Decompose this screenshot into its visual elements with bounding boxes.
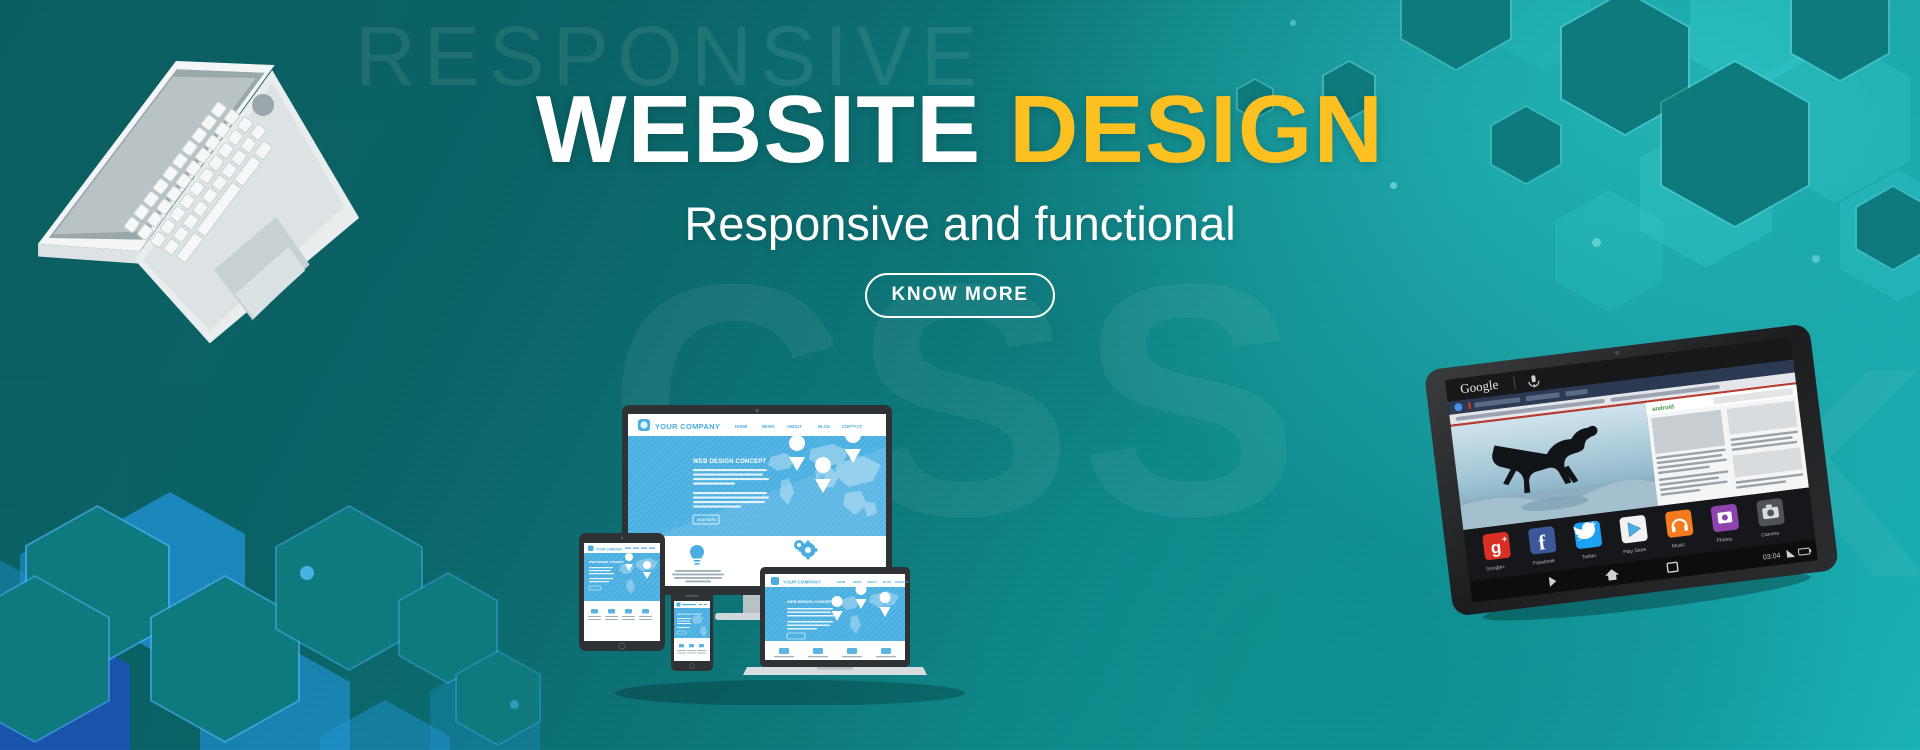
device-mockups-group: YOUR COMPANY HOME NEWS ABOUT BLOG CONTAC…	[575, 405, 1005, 705]
title-word-design: DESIGN	[1009, 76, 1384, 183]
know-more-button[interactable]: KNOW MORE	[865, 273, 1056, 318]
mockup-nav-about: ABOUT	[787, 424, 802, 429]
svg-text:02: 02	[834, 608, 838, 612]
svg-text:03: 03	[849, 445, 855, 451]
svg-text:02: 02	[819, 475, 825, 481]
laptop-mockup-hero-heading: WEB DESIGN CONCEPT	[787, 599, 834, 604]
laptop-mockup-company-name: YOUR COMPANY	[783, 580, 821, 585]
svg-text:03: 03	[882, 604, 886, 608]
mockup-nav-blog: BLOG	[818, 424, 830, 429]
mockup-group-shadow	[615, 680, 965, 705]
svg-text:NEWS: NEWS	[853, 580, 862, 584]
svg-text:+: +	[1501, 534, 1507, 545]
svg-text:READ MORE: READ MORE	[697, 518, 716, 522]
tablet-mockup: YOUR COMPANY WEB DESIGN CONCEPT	[579, 533, 665, 651]
subtitle: Responsive and functional	[0, 200, 1920, 247]
responsive-website-design-banner: RESPONSIVE CSS DESIGN K WEBSITE DESIGN R…	[0, 0, 1920, 750]
svg-text:ABOUT: ABOUT	[867, 580, 877, 584]
mockup-company-name: YOUR COMPANY	[655, 422, 720, 431]
cta-wrapper: KNOW MORE	[0, 273, 1920, 318]
news-page-panel: android	[1645, 384, 1809, 506]
svg-text:CONTACT: CONTACT	[895, 580, 909, 584]
svg-text:WEB DESIGN CONCEPT: WEB DESIGN CONCEPT	[589, 560, 624, 564]
smartphone-mockup: WEB DESIGN CONCEPT	[671, 591, 713, 671]
svg-text:WEB DESIGN CONCEPT: WEB DESIGN CONCEPT	[677, 614, 703, 616]
android-tablet: Google	[1417, 317, 1847, 634]
page-title: WEBSITE DESIGN	[0, 82, 1920, 178]
mockup-hero-heading: WEB DESIGN CONCEPT	[693, 459, 766, 465]
svg-text:HOME: HOME	[837, 580, 846, 584]
svg-text:01: 01	[858, 596, 862, 600]
svg-text:YOUR COMPANY: YOUR COMPANY	[596, 547, 623, 551]
svg-text:g: g	[1490, 538, 1503, 558]
mockup-nav-home: HOME	[735, 424, 748, 429]
laptop-mockup-logo-icon	[771, 577, 779, 585]
svg-text:BLOG: BLOG	[883, 580, 891, 584]
app-icon-play-store: Play Store	[1619, 515, 1649, 556]
svg-text:01: 01	[793, 453, 799, 459]
app-icon-facebook: f Facebook	[1528, 526, 1558, 567]
mockup-nav-news: NEWS	[762, 424, 775, 429]
headline-block: WEBSITE DESIGN Responsive and functional…	[0, 82, 1920, 318]
title-word-website: WEBSITE	[536, 76, 981, 183]
laptop-mockup: YOUR COMPANY HOME NEWS ABOUT BLOG CONTAC…	[743, 567, 927, 675]
